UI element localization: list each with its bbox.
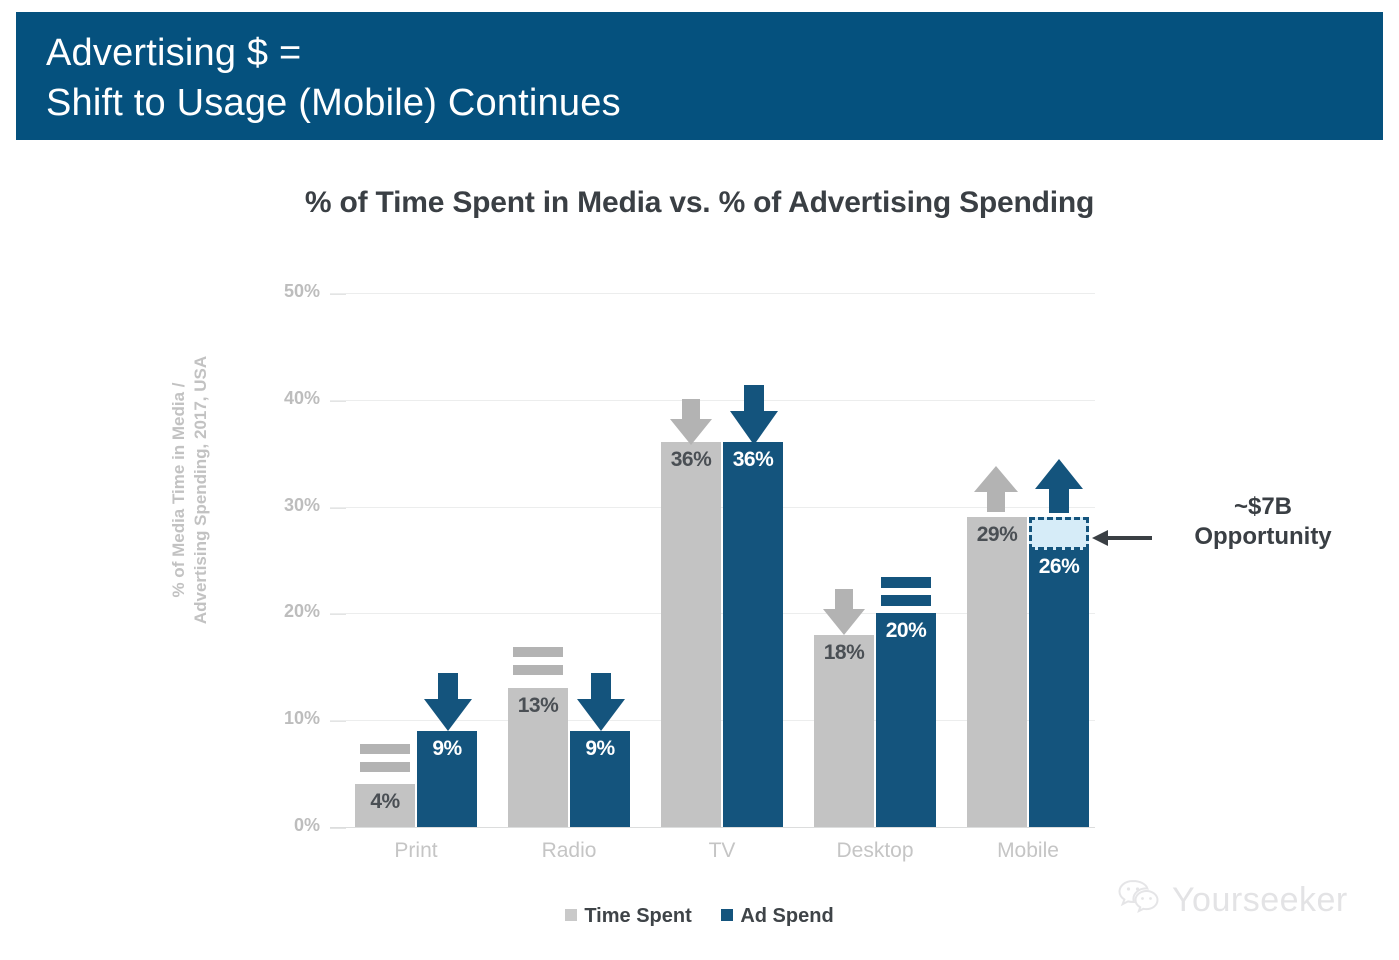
arrow-down-icon-tv-ad-spend [728,385,780,447]
bar-radio-time-spent[interactable]: 13% [508,688,568,827]
plot-area: 4% 9% 13% 9% [330,293,1095,827]
arrow-down-icon-tv-time-spent [668,399,714,447]
legend-item-ad-spend[interactable]: Ad Spend [721,905,833,928]
arrow-down-icon-desktop-time-spent [821,589,867,637]
wechat-icon [1118,878,1162,923]
bar-label-desktop-time-spent: 18% [814,641,874,665]
chart-region: % of Media Time in Media / Advertising S… [0,0,1399,960]
bar-print-time-spent[interactable]: 4% [355,784,415,827]
y-tick-label-50: 50% [258,281,320,302]
arrow-down-icon-print-ad-spend [422,673,474,733]
bar-mobile-ad-spend[interactable]: 26% [1029,549,1089,827]
bar-desktop-time-spent[interactable]: 18% [814,635,874,827]
y-tick-label-20: 20% [258,601,320,622]
equals-icon-print-time-spent [360,743,410,775]
opportunity-callout: ~$7B Opportunity [1148,492,1378,552]
legend-item-time-spent[interactable]: Time Spent [565,905,691,928]
bar-tv-ad-spend[interactable]: 36% [723,442,783,827]
arrow-up-icon-mobile-time-spent [972,466,1020,514]
bar-tv-time-spent[interactable]: 36% [661,442,721,827]
watermark-text: Yourseeker [1172,881,1348,920]
bar-label-tv-ad-spend: 36% [723,448,783,472]
bar-label-print-time-spent: 4% [355,790,415,814]
x-axis-label-radio: Radio [508,839,630,863]
bar-label-desktop-ad-spend: 20% [876,619,936,643]
x-axis-label-print: Print [355,839,477,863]
bar-label-mobile-time-spent: 29% [967,523,1027,547]
bar-radio-ad-spend[interactable]: 9% [570,731,630,827]
bar-label-radio-time-spent: 13% [508,694,568,718]
y-tick-label-30: 30% [258,495,320,516]
bar-label-print-ad-spend: 9% [417,737,477,761]
arrow-down-icon-radio-ad-spend [575,673,627,733]
bar-label-tv-time-spent: 36% [661,448,721,472]
x-axis-label-mobile: Mobile [967,839,1089,863]
legend-swatch-ad-spend [721,909,733,921]
y-axis-title-line-1: % of Media Time in Media / [168,340,190,640]
bar-print-ad-spend[interactable]: 9% [417,731,477,827]
opportunity-arrow-icon [1092,528,1154,548]
opportunity-callout-line-2: Opportunity [1148,522,1378,552]
bar-label-radio-ad-spend: 9% [570,737,630,761]
bar-mobile-time-spent[interactable]: 29% [967,517,1027,827]
gridline-50 [330,293,1095,294]
opportunity-callout-line-1: ~$7B [1148,492,1378,522]
watermark: Yourseeker [1118,878,1348,923]
y-tick-label-10: 10% [258,708,320,729]
x-axis-label-tv: TV [661,839,783,863]
bar-desktop-ad-spend[interactable]: 20% [876,613,936,827]
equals-icon-desktop-ad-spend [881,576,931,608]
x-axis-label-desktop: Desktop [814,839,936,863]
legend-label-ad-spend: Ad Spend [740,905,833,927]
x-axis-line [330,827,1095,828]
legend-label-time-spent: Time Spent [584,905,691,927]
y-tick-label-0: 0% [258,815,320,836]
bar-label-mobile-ad-spend: 26% [1029,555,1089,579]
opportunity-box[interactable] [1029,517,1089,550]
y-axis-title-line-2: Advertising Spending, 2017, USA [190,340,212,640]
y-tick-label-40: 40% [258,388,320,409]
arrow-up-icon-mobile-ad-spend [1033,459,1085,515]
equals-icon-radio-time-spent [513,646,563,678]
y-axis-title: % of Media Time in Media / Advertising S… [168,340,212,640]
legend-swatch-time-spent [565,909,577,921]
